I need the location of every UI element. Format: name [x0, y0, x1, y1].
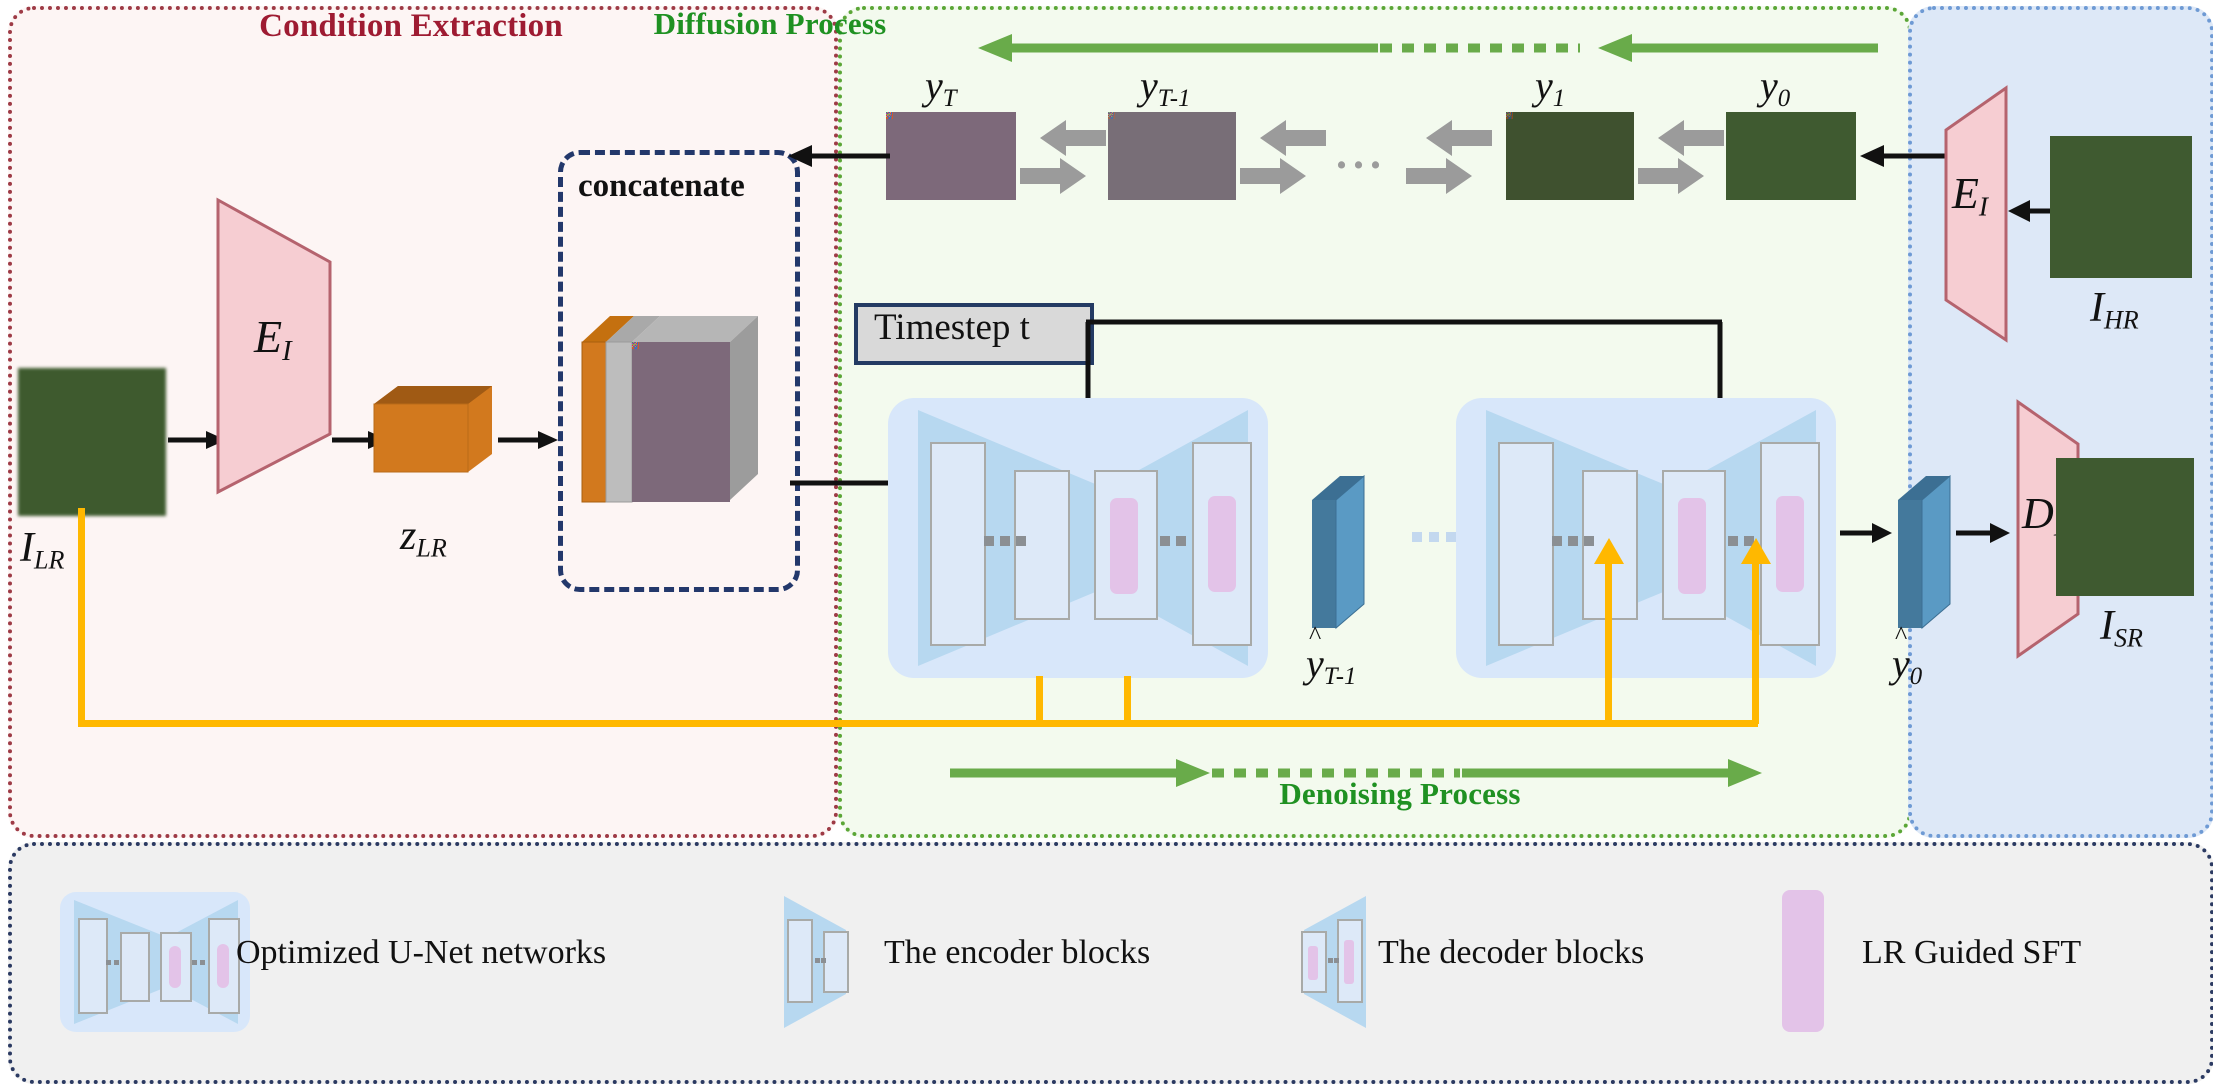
- lr-input-image: [18, 368, 166, 516]
- legend-label-3: LR Guided SFT: [1862, 934, 2081, 972]
- unet-left-encoder-dots: [984, 536, 1026, 546]
- unet-left: [888, 398, 1268, 678]
- legend-label-0: Optimized U-Net networks: [236, 934, 606, 972]
- timestep-label: Timestep t: [874, 306, 1030, 349]
- output-yhat0-label: ^ y0: [1892, 640, 1922, 691]
- lr-guidance-arrowhead-3: [1592, 538, 1626, 568]
- legend-unet-icon: [60, 892, 250, 1032]
- diffusion-step-arrows-4: [1638, 118, 1724, 196]
- panel-title-diffusion-process: Diffusion Process: [560, 6, 980, 42]
- legend-unet-sft-2: [217, 944, 229, 988]
- arrow-yT-to-concat: [786, 141, 890, 171]
- legend-label-2: The decoder blocks: [1378, 934, 1644, 972]
- unet-right-sft-1: [1678, 498, 1706, 594]
- lr-guidance-riser-3: [1605, 560, 1612, 724]
- concatenate-label: concatenate: [578, 168, 745, 205]
- diffusion-arrow-dotted-segment: [1380, 33, 1580, 63]
- sr-image-label: ISR: [2100, 602, 2143, 653]
- lr-guidance-bus: [78, 720, 1758, 727]
- diffusion-step-arrows-2: [1240, 118, 1326, 196]
- legend-label-1: The encoder blocks: [884, 934, 1150, 972]
- legend-encoder-block-icon: [774, 888, 878, 1036]
- diffusion-step-image-3: [1726, 112, 1856, 200]
- legend-unet-encoder-dots: [106, 960, 119, 965]
- latent-zlr-slab: [370, 342, 500, 510]
- unet-left-decoder-block-1: [1094, 470, 1158, 620]
- diffusion-arrow-right-segment: [1580, 33, 1880, 63]
- latent-zlr-label: zLR: [400, 512, 447, 563]
- unet-right-encoder-block-1: [1498, 442, 1554, 646]
- unet-right-encoder-dots: [1552, 536, 1594, 546]
- diffusion-arrow-left-segment: [960, 33, 1380, 63]
- legend-sft-bar-icon: [1782, 890, 1824, 1032]
- legend-decoder-block-icon: [1272, 888, 1376, 1036]
- legend-unet-decoder-block-1: [160, 932, 192, 1002]
- diffusion-step-image-1: [1108, 112, 1236, 200]
- unet-left-encoder-block-1: [930, 442, 986, 646]
- lr-guidance-line-down: [78, 508, 85, 726]
- hr-image: [2050, 136, 2192, 278]
- unet-right-sft-2: [1776, 496, 1804, 592]
- legend-unet-encoder-block-2: [120, 932, 150, 1002]
- arrow-unet-to-yhat0: [1840, 518, 1894, 548]
- diffusion-step-arrows-1: [1020, 118, 1106, 196]
- arrow-latent-to-concat: [498, 425, 560, 455]
- diffusion-step-label-3: y0: [1760, 62, 1790, 113]
- diffusion-step-label-1: yT-1: [1140, 62, 1190, 113]
- diffusion-ellipsis: ...: [1336, 128, 1387, 179]
- diffusion-step-image-0b: [886, 112, 1016, 200]
- denoising-arrow-left-segment: [950, 758, 1210, 788]
- condition-encoder-label: EI: [254, 310, 292, 368]
- lr-guidance-arrowhead-4: [1739, 538, 1773, 568]
- diffusion-step-arrows-3: [1406, 118, 1492, 196]
- legend-unet-encoder-block-1: [78, 918, 108, 1014]
- diffusion-step-label-2: y1: [1535, 62, 1565, 113]
- lr-guidance-riser-2: [1124, 676, 1131, 724]
- lr-guidance-riser-1: [1036, 676, 1043, 724]
- denoising-arrow-right-segment: [1462, 758, 1762, 788]
- unet-right: [1456, 398, 1836, 678]
- hr-encoder-label: EI: [1952, 168, 1988, 223]
- diffusion-step-label-0: yT: [925, 62, 957, 113]
- arrow-yhat0-to-decoder: [1956, 518, 2012, 548]
- lr-input-label: ILR: [20, 524, 64, 575]
- legend-unet-sft-1: [169, 946, 181, 988]
- unet-left-sft-2: [1208, 496, 1236, 592]
- legend-unet-decoder-dots: [192, 960, 205, 965]
- unet-left-decoder-block-2: [1192, 442, 1252, 646]
- unet-left-sft-1: [1110, 498, 1138, 594]
- unet-sequence-dots: [1412, 532, 1456, 542]
- concatenated-noise-face: [632, 342, 730, 502]
- intermediate-yhat-label: ^ yT-1: [1306, 640, 1356, 691]
- unet-right-decoder-block-1: [1662, 470, 1726, 620]
- denoising-arrow-dotted-segment: [1212, 758, 1460, 788]
- diffusion-step-image-2-noise-overlay: [1506, 112, 1634, 200]
- lr-guidance-riser-4: [1752, 560, 1759, 724]
- intermediate-yhat-slab: [1304, 432, 1414, 652]
- hr-image-label: IHR: [2090, 284, 2139, 335]
- sr-image: [2056, 458, 2194, 596]
